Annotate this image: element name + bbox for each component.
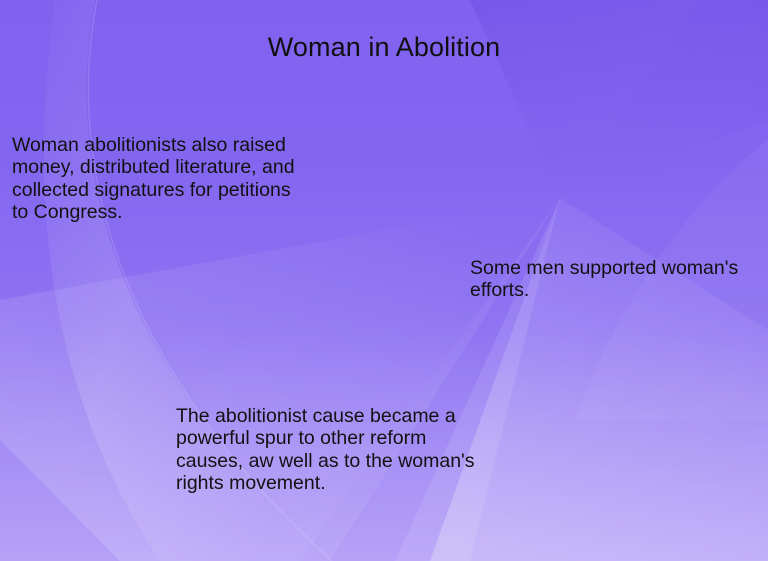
slide-text-layer: Woman in Abolition Woman abolitionists a… bbox=[0, 0, 768, 561]
body-text-fundraising: Woman abolitionists also raised money, d… bbox=[12, 134, 312, 224]
body-text-reform: The abolitionist cause became a powerful… bbox=[176, 405, 476, 495]
presentation-slide: Woman in Abolition Woman abolitionists a… bbox=[0, 0, 768, 561]
body-text-support: Some men supported woman's efforts. bbox=[470, 257, 762, 302]
slide-title: Woman in Abolition bbox=[0, 30, 768, 64]
